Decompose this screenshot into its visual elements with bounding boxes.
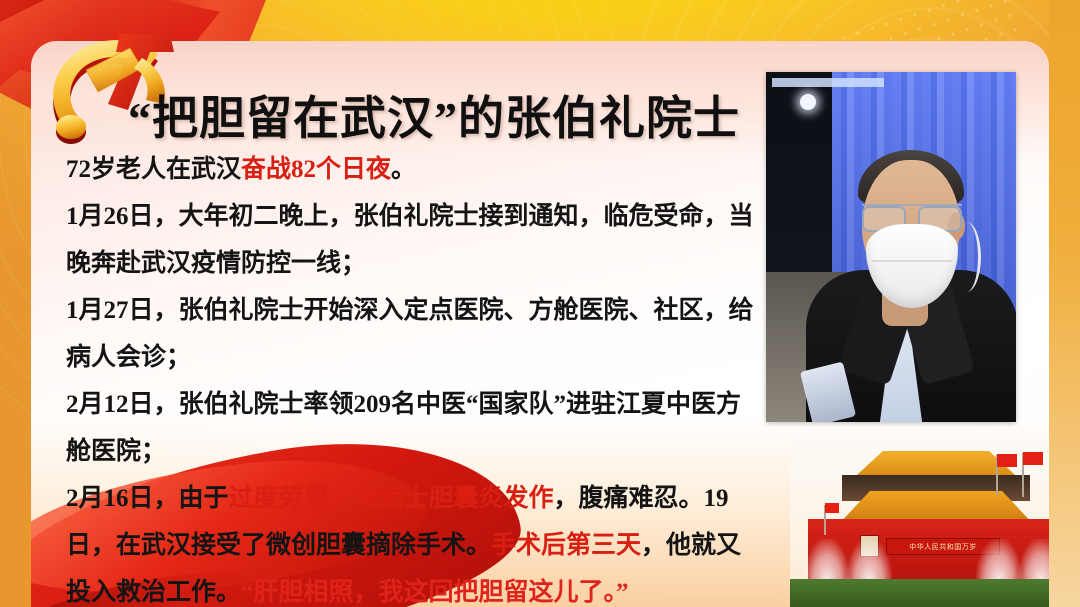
slide-root: 中华人民共和国万岁: [0, 0, 1080, 607]
paragraph-jan26: 1月26日，大年初二晚上，张伯礼院士接到通知，临危受命，当晚奔赴武汉疫情防控一线…: [66, 193, 756, 287]
red-flag-3: [825, 503, 839, 513]
portrait-photo: [766, 72, 1016, 422]
photo-ceiling-light-strip: [772, 78, 884, 87]
red-flag-1: [997, 454, 1017, 467]
fountain-1: [804, 539, 850, 583]
body-text: 72岁老人在武汉奋战82个日夜。 1月26日，大年初二晚上，张伯礼院士接到通知，…: [66, 146, 756, 607]
paragraph-feb16: 2月16日，由于过度劳累，张院士胆囊炎发作，腹痛难忍。19日，在武汉接受了微创胆…: [66, 475, 756, 607]
paragraph-feb12: 2月12日，张伯礼院士率领209名中医“国家队”进驻江夏中医方舱医院；: [66, 381, 756, 475]
photo-mask-strap: [952, 222, 981, 292]
lead-red-highlight: 奋战82个日夜: [241, 156, 391, 183]
fountain-4: [1018, 539, 1049, 583]
tiananmen-illustration: 中华人民共和国万岁: [790, 432, 1049, 607]
red-flag-2: [1023, 452, 1043, 465]
paragraph-jan27: 1月27日，张伯礼院士开始深入定点医院、方舱医院、社区，给病人会诊；: [66, 287, 756, 381]
feb16-red-1: 过度劳累，张院士胆囊炎发作: [229, 485, 554, 512]
right-gold-edge: [1049, 0, 1080, 607]
page-title: “把胆留在武汉”的张伯礼院士: [128, 82, 740, 148]
fountain-3: [976, 539, 1022, 583]
paragraph-lead: 72岁老人在武汉奋战82个日夜。: [66, 146, 756, 193]
feb16-red-quote: “肝胆相照，我这回把胆留这儿了。”: [241, 579, 629, 606]
lead-black-1: 72岁老人在武汉: [66, 156, 241, 183]
lead-black-2: 。: [391, 156, 416, 183]
photo-lamp-glow: [800, 94, 816, 110]
tiananmen-hedge: [790, 579, 1049, 607]
feb16-black-1: 2月16日，由于: [66, 485, 229, 512]
fountain-2: [846, 539, 892, 583]
feb16-red-2: 手术后第三天: [491, 532, 641, 559]
